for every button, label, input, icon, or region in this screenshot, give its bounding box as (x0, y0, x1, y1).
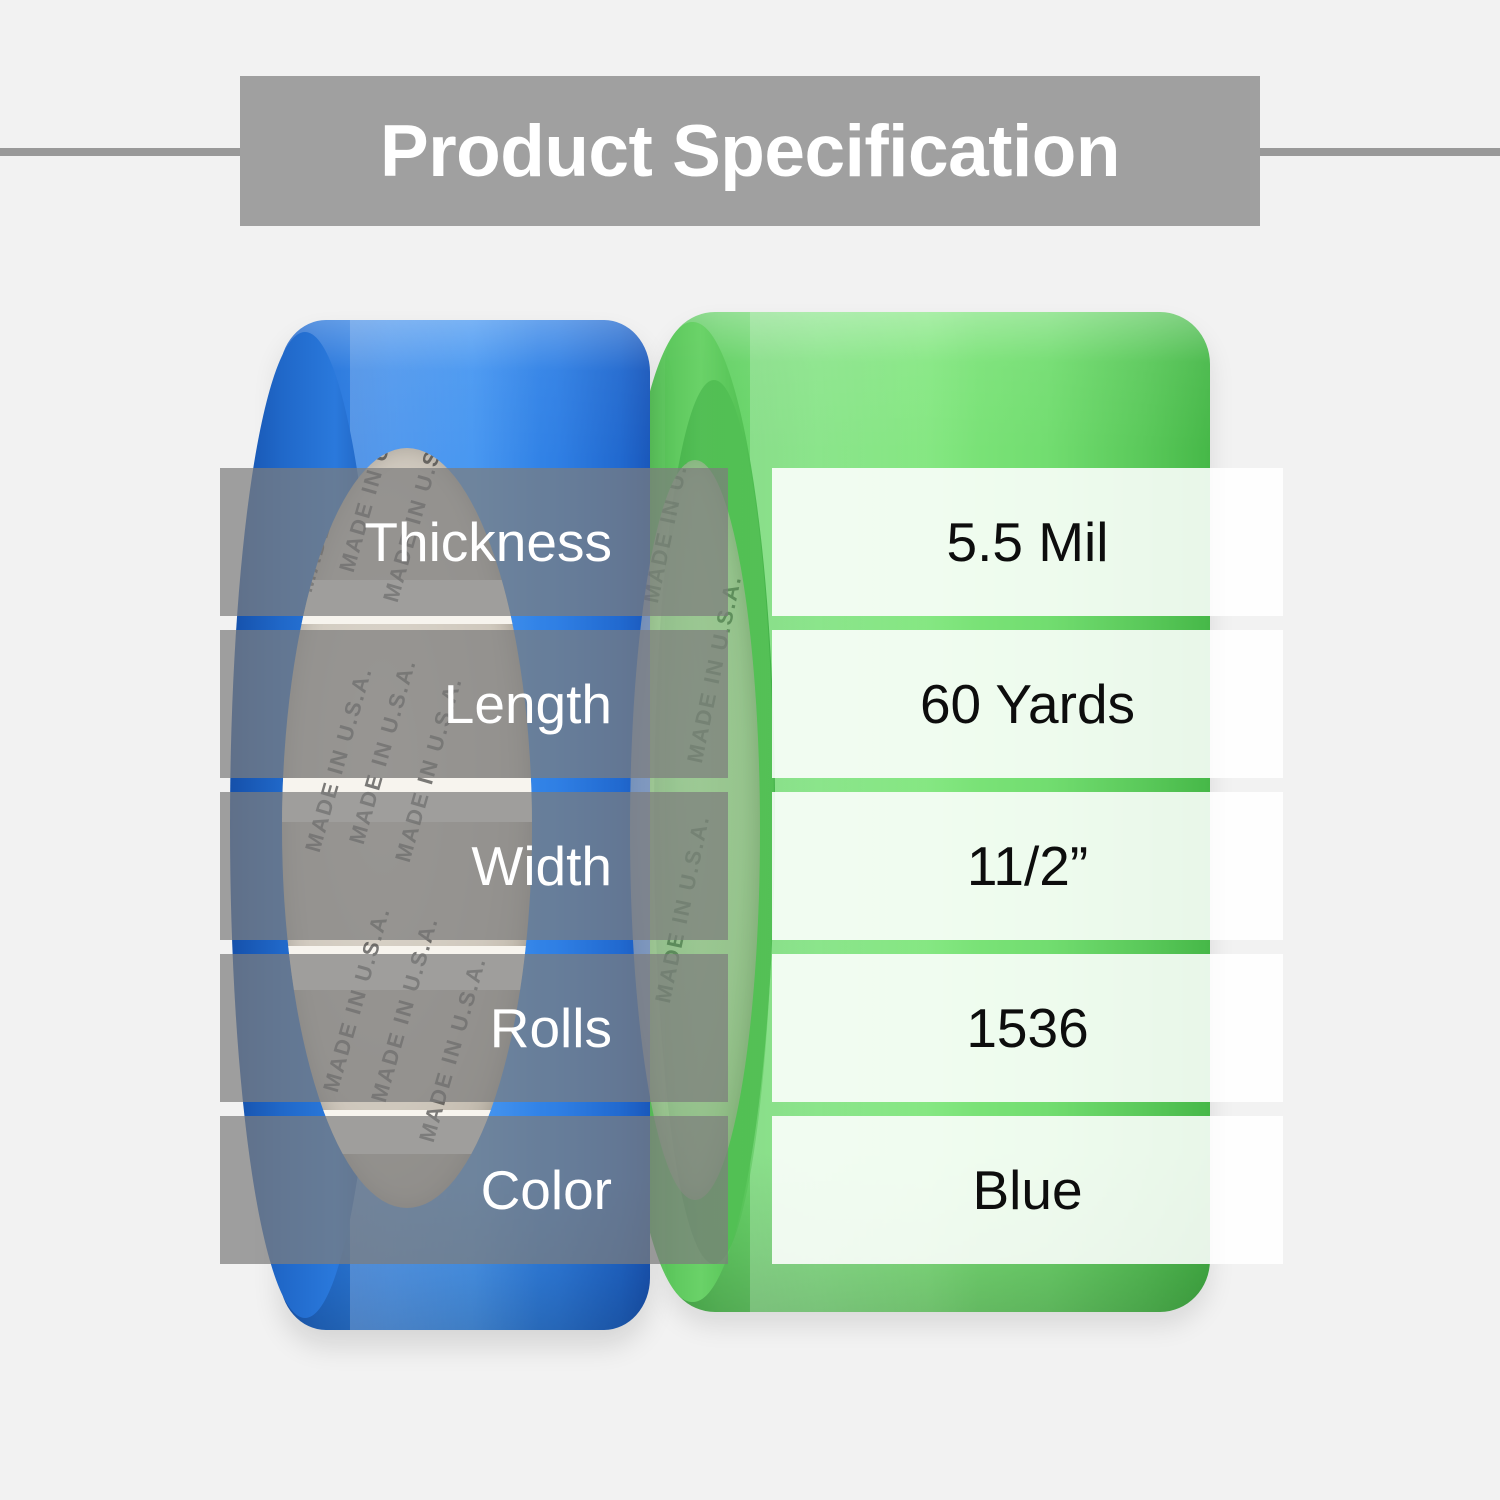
spec-label: Width (471, 839, 612, 894)
spec-value: 5.5 Mil (947, 515, 1109, 570)
spec-value: 11/2” (967, 839, 1088, 894)
spec-value-band: 11/2” (772, 792, 1283, 940)
spec-label-band: Color (220, 1116, 728, 1264)
spec-value-band: 5.5 Mil (772, 468, 1283, 616)
spec-row: Color Blue (0, 1116, 1500, 1264)
spec-label-band: Width (220, 792, 728, 940)
spec-label-band: Rolls (220, 954, 728, 1102)
spec-label-band: Length (220, 630, 728, 778)
spec-label: Color (481, 1163, 612, 1218)
spec-value: Blue (972, 1163, 1082, 1218)
spec-row: Rolls 1536 (0, 954, 1500, 1102)
spec-table: Thickness 5.5 Mil Length 60 Yards Width … (0, 0, 1500, 1500)
spec-value-band: 60 Yards (772, 630, 1283, 778)
spec-label: Thickness (364, 515, 612, 570)
product-specification-infographic: Product Specification MADE IN U.S.A. MAD… (0, 0, 1500, 1500)
spec-label: Length (444, 677, 612, 732)
spec-label: Rolls (490, 1001, 612, 1056)
spec-row: Width 11/2” (0, 792, 1500, 940)
spec-row: Length 60 Yards (0, 630, 1500, 778)
spec-label-band: Thickness (220, 468, 728, 616)
spec-value: 60 Yards (920, 677, 1135, 732)
spec-row: Thickness 5.5 Mil (0, 468, 1500, 616)
spec-value-band: Blue (772, 1116, 1283, 1264)
spec-value-band: 1536 (772, 954, 1283, 1102)
spec-value: 1536 (966, 1001, 1088, 1056)
